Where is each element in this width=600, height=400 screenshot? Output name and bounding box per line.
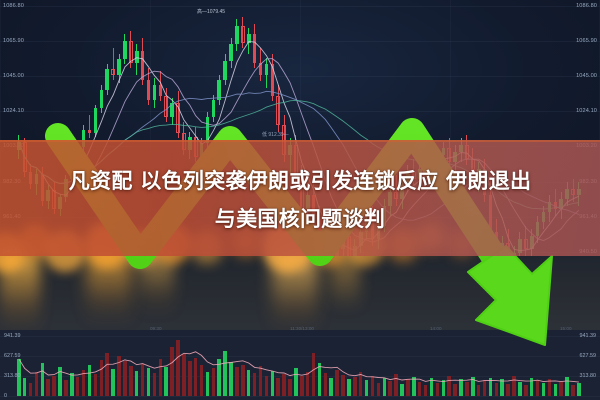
arrow-head: [468, 246, 552, 345]
headline-text: 凡资配 以色列突袭伊朗或引发连锁反应 伊朗退出 与美国核问题谈判: [0, 162, 600, 238]
screenshot-root: 1086.801065.901045.001024.101003.20982.3…: [0, 0, 600, 400]
headline-band-top-edge: [0, 140, 600, 142]
headline-line-1: 凡资配 以色列突袭伊朗或引发连锁反应 伊朗退出: [0, 162, 600, 200]
headline-line-2: 与美国核问题谈判: [0, 200, 600, 238]
